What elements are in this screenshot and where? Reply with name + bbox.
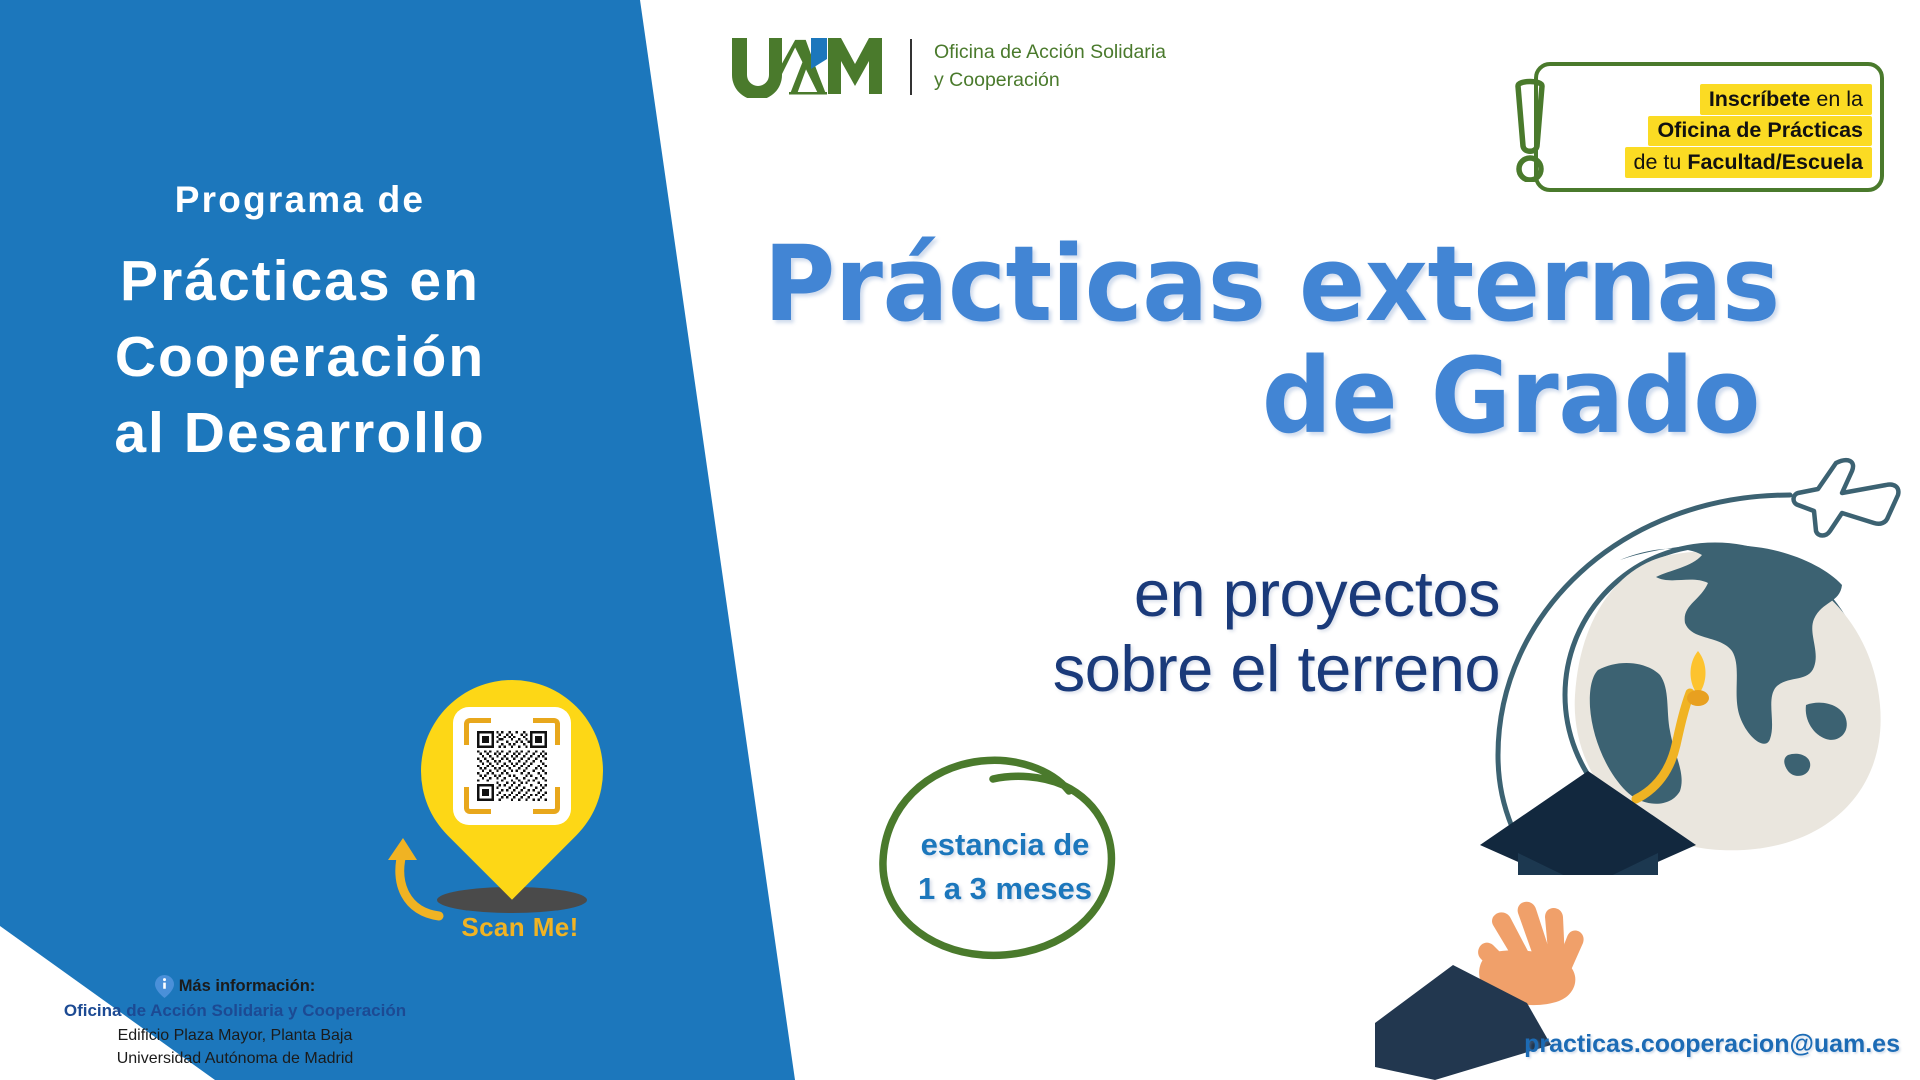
logo-tagline-line-2: y Cooperación <box>934 67 1166 95</box>
callout-line-1: Inscríbete en la <box>1700 84 1872 115</box>
program-title-line-2: Cooperación <box>0 320 600 396</box>
more-info-text: Más información: <box>179 975 316 999</box>
main-heading-line-1: Prácticas externas <box>764 228 1760 340</box>
sub-heading-line-2: sobre el terreno <box>700 631 1500 706</box>
contact-address: Edificio Plaza Mayor, Planta Baja <box>10 1024 460 1047</box>
qr-card <box>453 707 571 825</box>
globe-illustration <box>1470 455 1920 875</box>
callout-line-2: Oficina de Prácticas <box>1648 116 1872 147</box>
callout-line-1-rest: en la <box>1810 87 1863 111</box>
main-heading-line-2: de Grado <box>764 340 1760 452</box>
left-panel-text: Programa de Prácticas en Cooperación al … <box>0 178 600 472</box>
duration-line-2: 1 a 3 meses <box>855 867 1155 911</box>
program-title-line-1: Prácticas en <box>0 244 600 320</box>
qr-pin-block[interactable]: Scan Me! <box>395 680 625 940</box>
contact-email[interactable]: practicas.cooperacion@uam.es <box>1400 1030 1900 1059</box>
program-title-line-3: al Desarrollo <box>0 396 600 472</box>
callout-line-3: de tu Facultad/Escuela <box>1625 147 1872 178</box>
enrollment-callout: Inscríbete en la Oficina de Prácticas de… <box>1508 62 1884 194</box>
callout-line-2-bold: Oficina de Prácticas <box>1657 118 1863 142</box>
exclamation-mark-icon <box>1508 74 1552 182</box>
contact-office: Oficina de Acción Solidaria y Cooperació… <box>10 999 460 1024</box>
callout-line-1-bold: Inscríbete <box>1709 87 1811 111</box>
logo-tagline-line-1: Oficina de Acción Solidaria <box>934 39 1166 67</box>
callout-line-3-bold: Facultad/Escuela <box>1687 150 1863 174</box>
callout-line-3-rest: de tu <box>1634 150 1688 174</box>
program-kicker: Programa de <box>0 178 600 222</box>
program-title: Prácticas en Cooperación al Desarrollo <box>0 244 600 471</box>
logo-divider <box>910 39 912 95</box>
logo-tagline: Oficina de Acción Solidaria y Cooperació… <box>934 39 1166 94</box>
airplane-icon <box>1794 460 1899 535</box>
contact-info-block: Más información: Oficina de Acción Solid… <box>10 975 460 1070</box>
uam-logo-icon <box>728 36 888 98</box>
uam-logo-block: Oficina de Acción Solidaria y Cooperació… <box>728 36 1166 98</box>
scan-me-label: Scan Me! <box>415 912 625 943</box>
sub-heading: en proyectos sobre el terreno <box>700 556 1500 707</box>
info-pin-icon <box>155 975 174 998</box>
sub-heading-line-1: en proyectos <box>700 556 1500 631</box>
main-heading: Prácticas externas de Grado <box>764 228 1760 453</box>
callout-text: Inscríbete en la Oficina de Prácticas de… <box>1552 84 1872 179</box>
contact-university: Universidad Autónoma de Madrid <box>10 1047 460 1070</box>
duration-badge: estancia de 1 a 3 meses <box>855 745 1155 965</box>
poster-canvas: Programa de Prácticas en Cooperación al … <box>0 0 1920 1080</box>
duration-line-1: estancia de <box>855 823 1155 867</box>
duration-badge-text: estancia de 1 a 3 meses <box>855 823 1155 911</box>
qr-code-icon <box>477 731 547 801</box>
tassel-knot <box>1687 690 1709 706</box>
more-info-heading: Más información: <box>10 975 460 999</box>
